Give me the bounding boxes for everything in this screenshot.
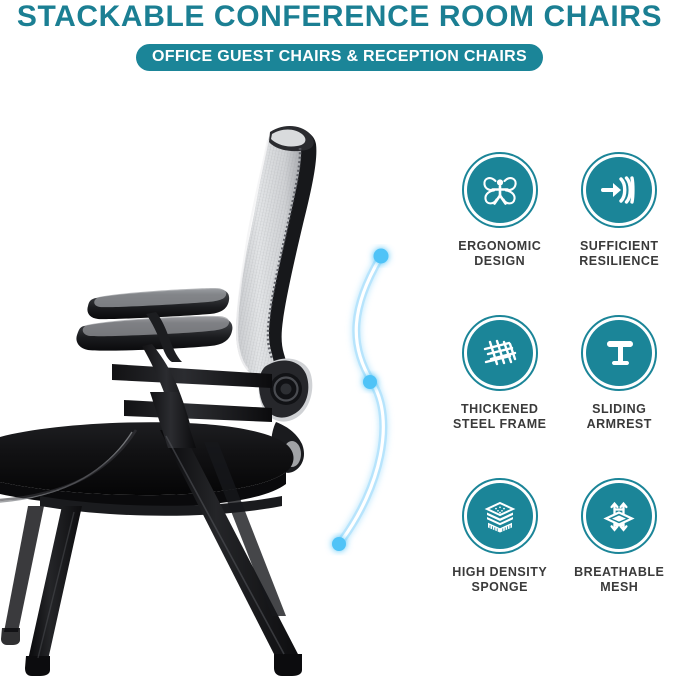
flex-dot-bottom (332, 537, 346, 551)
feature-icon-disc (467, 157, 533, 223)
header: STACKABLE CONFERENCE ROOM CHAIRS OFFICE … (0, 0, 679, 80)
feature-icon-disc (586, 483, 652, 549)
feature-sliding-armrest[interactable]: SLIDING ARMREST (560, 315, 679, 478)
feature-icon-ring (581, 315, 657, 391)
feature-row: ERGONOMIC DESIGN (440, 152, 679, 315)
feature-icon-disc (586, 320, 652, 386)
feature-icon-disc (586, 157, 652, 223)
sponge-layers-icon (480, 496, 520, 536)
seat-cushion (0, 422, 294, 516)
product-infographic-page: STACKABLE CONFERENCE ROOM CHAIRS OFFICE … (0, 0, 679, 677)
flex-dot-top (374, 249, 389, 264)
breathable-mesh-icon (599, 496, 639, 536)
resilience-arrow-icon (599, 170, 639, 210)
feature-label: BREATHABLE MESH (574, 565, 664, 595)
page-title: STACKABLE CONFERENCE ROOM CHAIRS (0, 0, 679, 34)
feature-icon-ring (462, 478, 538, 554)
ergonomic-body-icon (480, 170, 520, 210)
steel-frame-lattice-icon (479, 332, 521, 374)
feature-label: ERGONOMIC DESIGN (458, 239, 541, 269)
feature-high-density-sponge[interactable]: HIGH DENSITY SPONGE (440, 478, 560, 641)
feature-icon-ring (581, 478, 657, 554)
feature-icon-disc (467, 320, 533, 386)
feature-row: HIGH DENSITY SPONGE (440, 478, 679, 641)
sliding-armrest-icon (599, 333, 639, 373)
feature-icon-disc (467, 483, 533, 549)
feature-breathable-mesh[interactable]: BREATHABLE MESH (560, 478, 679, 641)
feature-thickened-steel-frame[interactable]: THICKENED STEEL FRAME (440, 315, 560, 478)
feature-sufficient-resilience[interactable]: SUFFICIENT RESILIENCE (560, 152, 679, 315)
feature-icon-ring (581, 152, 657, 228)
flex-dot-middle (363, 375, 377, 389)
feature-row: THICKENED STEEL FRAME SLIDING ARMREST (440, 315, 679, 478)
feature-icon-ring (462, 152, 538, 228)
subtitle-badge: OFFICE GUEST CHAIRS & RECEPTION CHAIRS (136, 44, 543, 71)
subtitle-badge-wrapper: OFFICE GUEST CHAIRS & RECEPTION CHAIRS (0, 44, 679, 71)
product-photo (0, 92, 440, 677)
feature-label: THICKENED STEEL FRAME (453, 402, 546, 432)
feature-icon-ring (462, 315, 538, 391)
feature-label: HIGH DENSITY SPONGE (452, 565, 547, 595)
feature-grid: ERGONOMIC DESIGN (440, 152, 679, 652)
feature-label: SUFFICIENT RESILIENCE (579, 239, 659, 269)
feature-ergonomic-design[interactable]: ERGONOMIC DESIGN (440, 152, 560, 315)
feature-label: SLIDING ARMREST (587, 402, 652, 432)
